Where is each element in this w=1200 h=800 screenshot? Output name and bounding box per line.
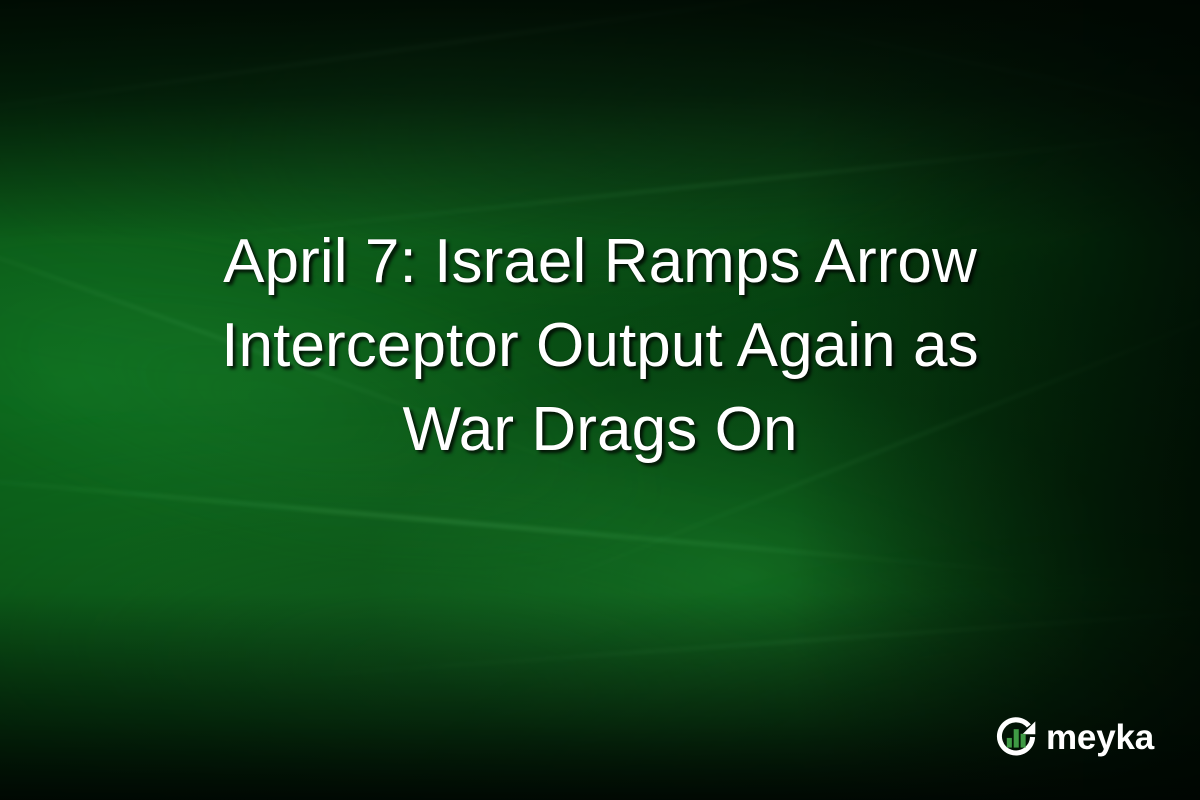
brand-wordmark: meyka xyxy=(1046,720,1154,755)
brand-lockup[interactable]: meyka xyxy=(993,714,1154,760)
headline-text: April 7: Israel Ramps Arrow Interceptor … xyxy=(90,220,1110,473)
news-card: April 7: Israel Ramps Arrow Interceptor … xyxy=(0,0,1200,800)
meyka-logo-icon xyxy=(993,714,1039,760)
